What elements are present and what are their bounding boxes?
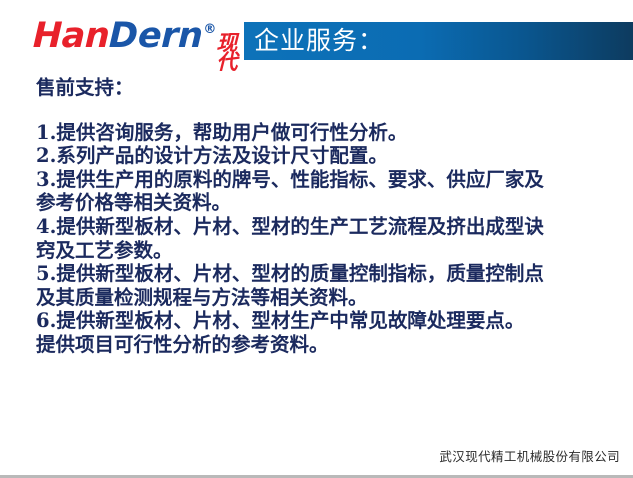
handern-logo: HanDern®现代 bbox=[33, 19, 235, 59]
service-line: 提供项目可行性分析的参考资料。 bbox=[36, 333, 624, 357]
slide-canvas: HanDern®现代 企业服务： 售前支持： 1.提供咨询服务，帮助用户做可行性… bbox=[0, 0, 633, 478]
service-line: 参考价格等相关资料。 bbox=[36, 191, 624, 215]
service-content-block: 售前支持： 1.提供咨询服务，帮助用户做可行性分析。 2.系列产品的设计方法及设… bbox=[36, 76, 624, 357]
service-line: 4.提供新型板材、片材、型材的生产工艺流程及挤出成型诀 bbox=[36, 215, 624, 239]
logo-text-ern: ern bbox=[137, 19, 203, 54]
section-heading: 售前支持： bbox=[36, 76, 624, 100]
logo-text-han: Han bbox=[32, 19, 110, 54]
service-line: 2.系列产品的设计方法及设计尺寸配置。 bbox=[36, 144, 624, 168]
registered-trademark-icon: ® bbox=[203, 22, 216, 37]
logo-text-d: D bbox=[109, 19, 139, 54]
service-line: 5.提供新型板材、片材、型材的质量控制指标，质量控制点 bbox=[36, 262, 624, 286]
service-line: 6.提供新型板材、片材、型材生产中常见故障处理要点。 bbox=[36, 309, 624, 333]
spacer-line bbox=[36, 100, 624, 121]
logo-chinese-xiandai: 现代 bbox=[216, 34, 236, 73]
service-line: 窍及工艺参数。 bbox=[36, 239, 624, 263]
page-title: 企业服务： bbox=[254, 24, 624, 58]
company-name-footer: 武汉现代精工机械股份有限公司 bbox=[439, 446, 620, 465]
service-line: 1.提供咨询服务，帮助用户做可行性分析。 bbox=[36, 121, 624, 145]
service-line: 及其质量检测规程与方法等相关资料。 bbox=[36, 286, 624, 310]
slide-header: HanDern®现代 企业服务： bbox=[0, 0, 633, 72]
logo-chinese-char-dai: 代 bbox=[216, 53, 236, 72]
service-line: 3.提供生产用的原料的牌号、性能指标、要求、供应厂家及 bbox=[36, 168, 624, 192]
